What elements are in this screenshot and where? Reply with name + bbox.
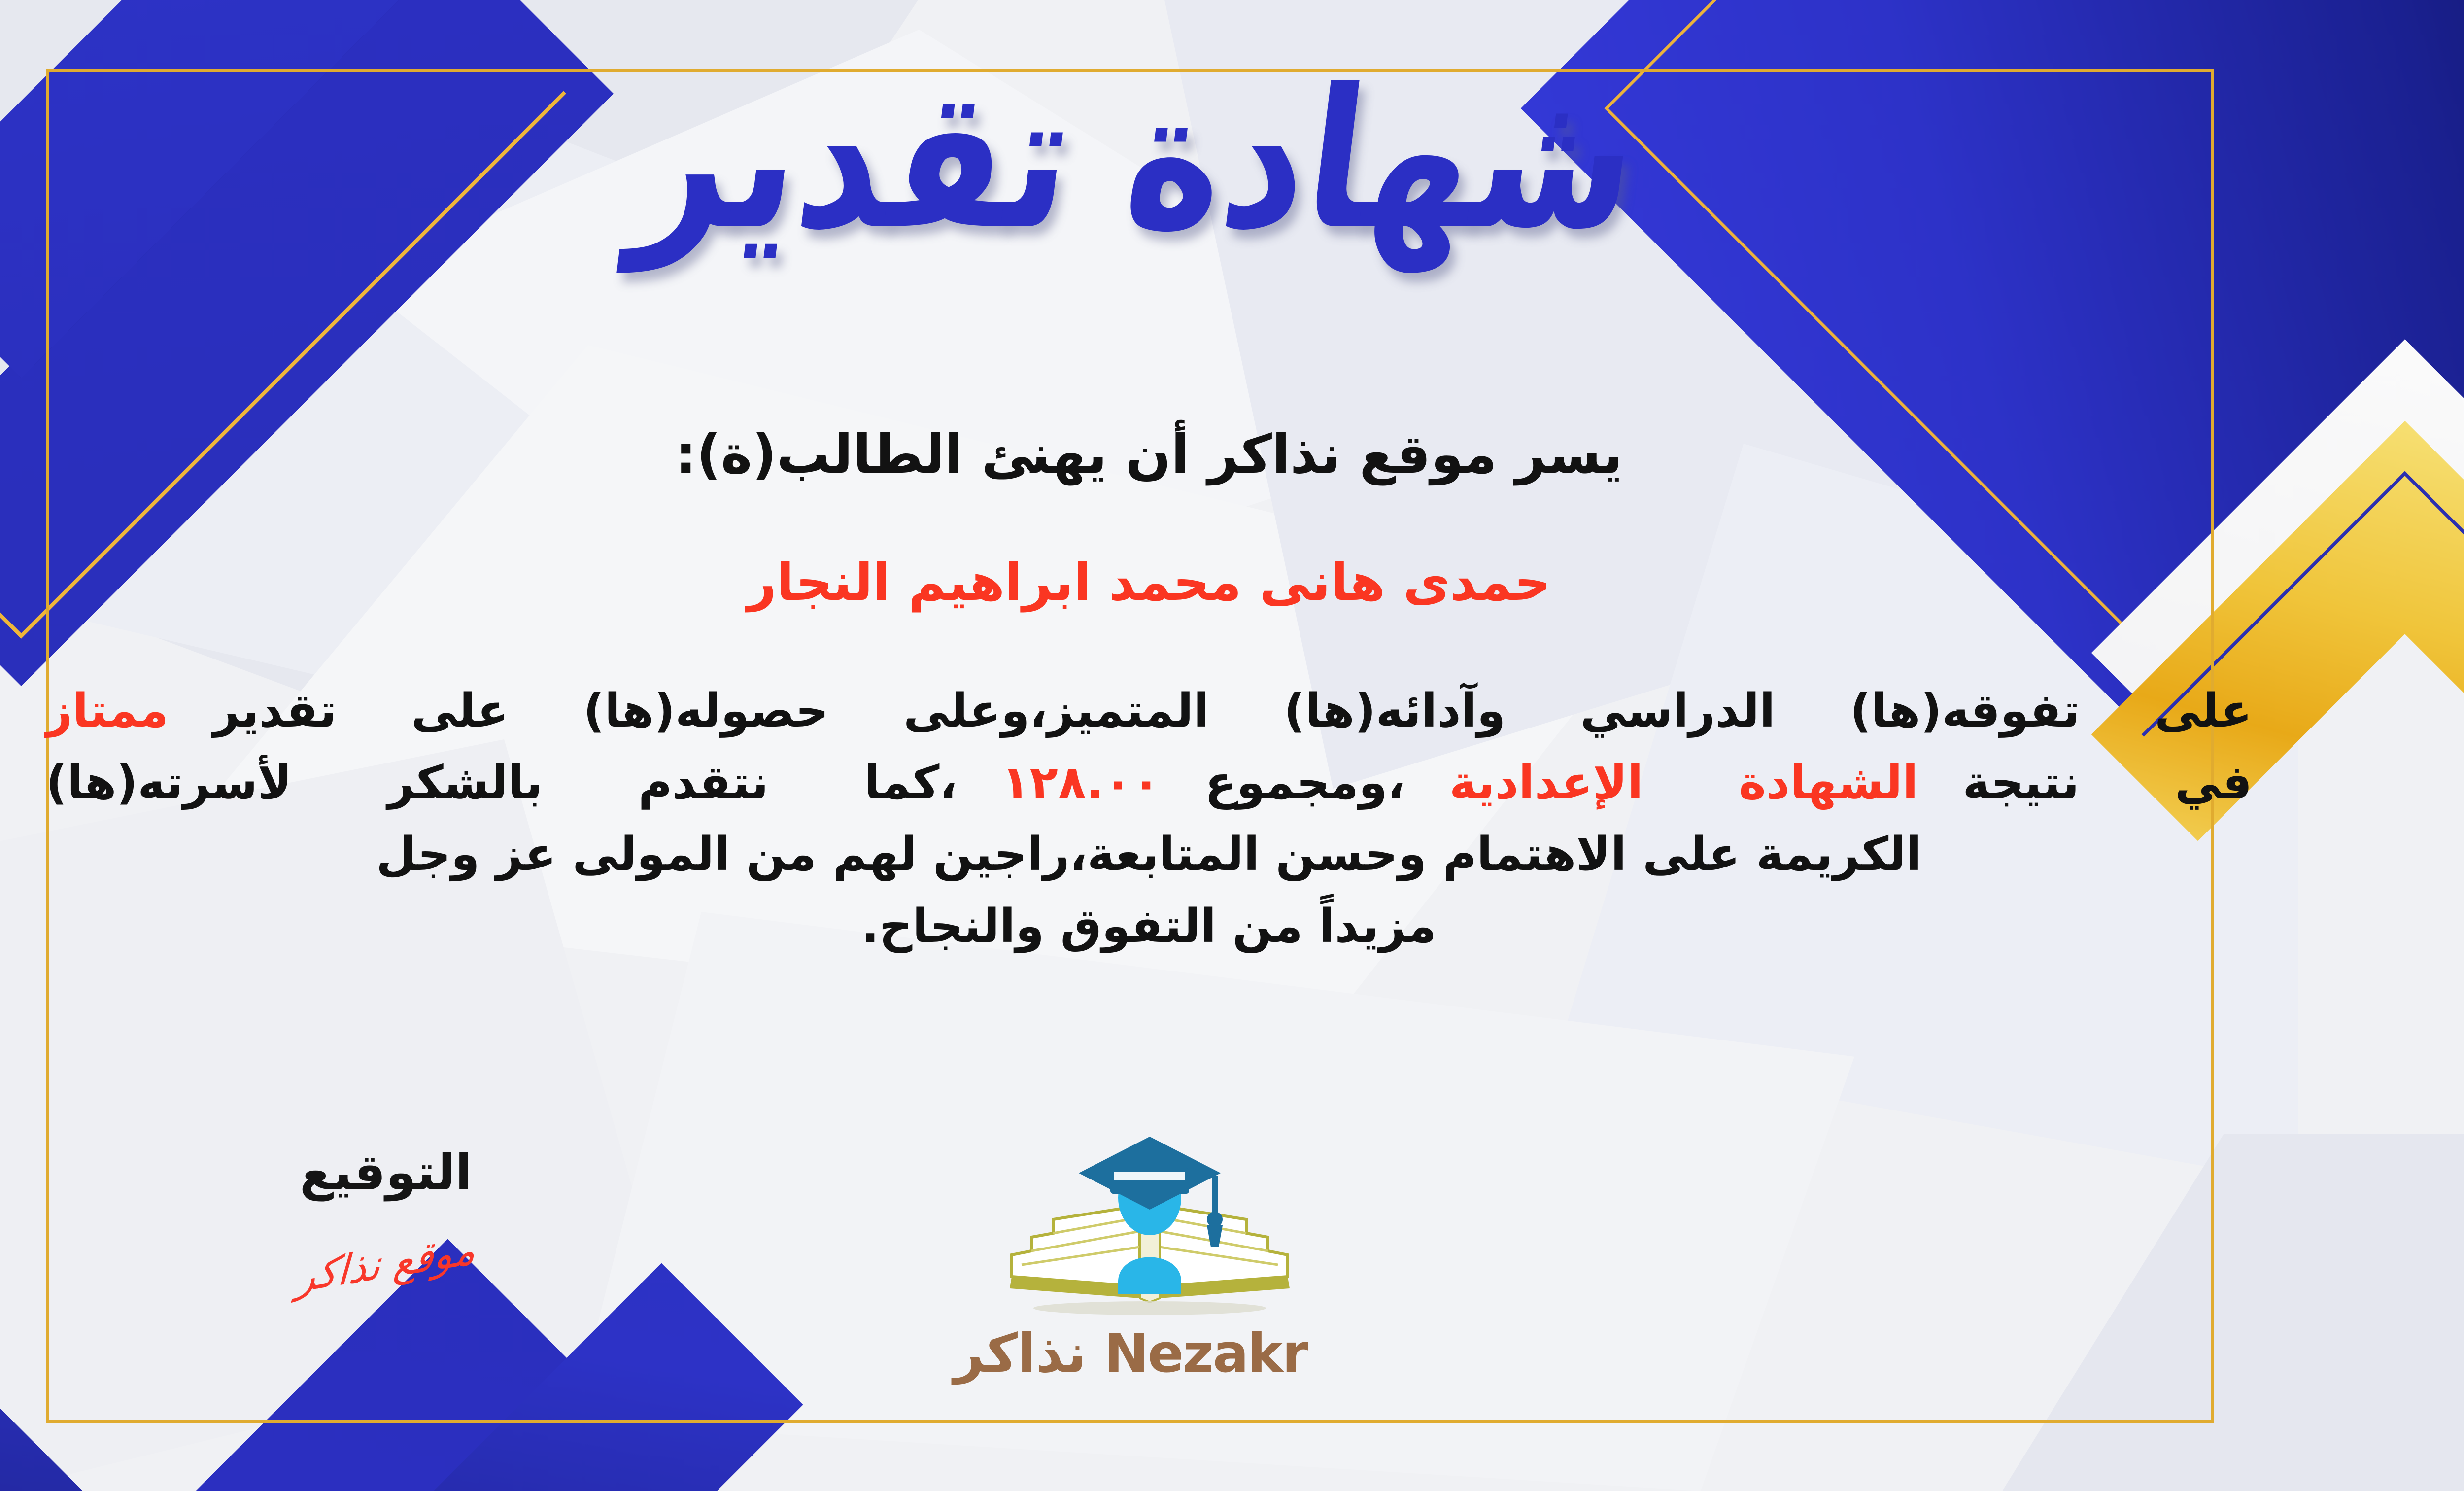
body-line-2-middle: ،ومجموع bbox=[1205, 756, 1405, 810]
grade-value: ممتاز bbox=[46, 684, 169, 738]
body-line-4: مزيداً من التفوق والنجاح. bbox=[46, 891, 2252, 963]
body-line-3: الكريمة على الاهتمام وحسن المتابعة،راجين… bbox=[46, 819, 2252, 891]
body-line-1-text: على تفوقه(ها) الدراسي وآدائه(ها) المتميز… bbox=[213, 684, 2252, 738]
body-line-2-prefix: في نتيجة bbox=[1963, 756, 2252, 810]
logo-block: Nezakr نذاكر bbox=[992, 1129, 1307, 1385]
certificate-title: شهادة تقدير bbox=[0, 59, 2464, 261]
logo-wordmark: Nezakr نذاكر bbox=[992, 1323, 1307, 1385]
signature-block: التوقيع موقع نذاكر bbox=[189, 1144, 583, 1287]
student-name: حمدى هانى محمد ابراهيم النجار bbox=[0, 552, 2464, 612]
exam-name-value: الشهادة الإعدادية bbox=[1449, 756, 1918, 810]
certificate-body: على تفوقه(ها) الدراسي وآدائه(ها) المتميز… bbox=[46, 675, 2252, 963]
certificate-content: شهادة تقدير يسر موقع نذاكر أن يهنئ الطال… bbox=[0, 0, 2464, 1491]
body-line-2: في نتيجةالشهادة الإعدادية،ومجموع١٢٨.٠٠،ك… bbox=[46, 747, 2252, 819]
body-line-1: على تفوقه(ها) الدراسي وآدائه(ها) المتميز… bbox=[46, 675, 2252, 747]
nezakr-graduate-book-logo-icon bbox=[992, 1129, 1307, 1326]
signature-mark: موقع نذاكر bbox=[295, 1226, 477, 1302]
certificate-page: شهادة تقدير يسر موقع نذاكر أن يهنئ الطال… bbox=[0, 0, 2464, 1491]
total-score-value: ١٢٨.٠٠ bbox=[1001, 756, 1161, 810]
intro-line: يسر موقع نذاكر أن يهنئ الطالب(ة): bbox=[0, 424, 2464, 485]
body-line-2-suffix: ،كما نتقدم بالشكر لأسرته(ها) bbox=[46, 756, 957, 810]
signature-label: التوقيع bbox=[189, 1144, 583, 1201]
